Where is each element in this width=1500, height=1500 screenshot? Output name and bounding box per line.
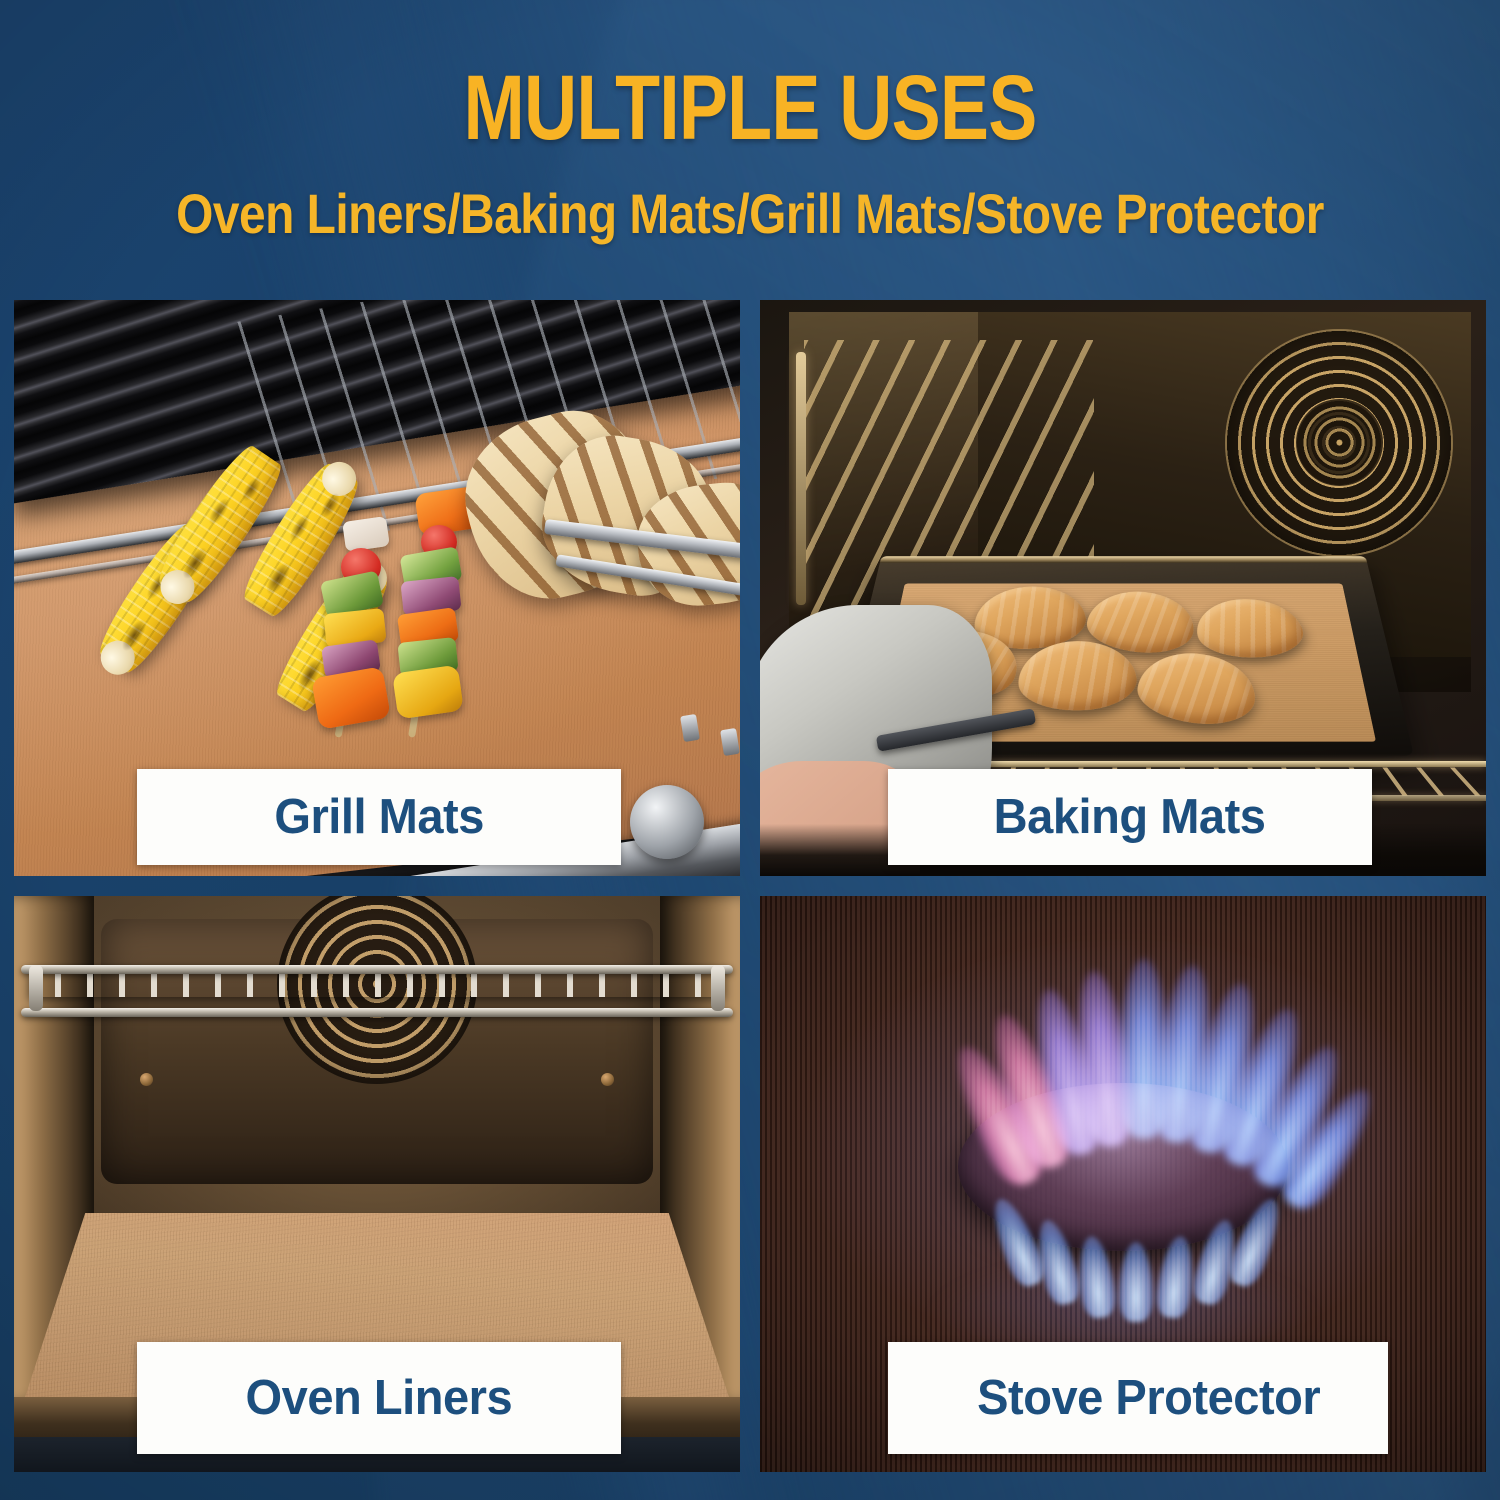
- grill-knob: [630, 785, 704, 859]
- oven-screw-right: [601, 1073, 614, 1086]
- croissant-3: [1191, 595, 1309, 660]
- oven-rack-side-left: [29, 965, 43, 1011]
- panel-label-oven-liners: Oven Liners: [137, 1342, 621, 1454]
- oven-rack-bar-back: [21, 1008, 732, 1017]
- panel-stove-protector[interactable]: Stove Protector: [760, 896, 1486, 1472]
- oven-rack-bar-front: [21, 965, 732, 974]
- skewer2-yellow-pepper: [392, 664, 464, 719]
- oven-rack-side-right: [711, 965, 725, 1011]
- panel-baking-mats[interactable]: Baking Mats: [760, 300, 1486, 876]
- oven-fan-core: [1296, 399, 1383, 486]
- oven-fan-vent-icon: [1225, 329, 1453, 557]
- use-case-grid: Grill Mats Ba: [14, 300, 1486, 1472]
- panel-label-text: Stove Protector: [977, 1374, 1320, 1423]
- panel-label-text: Baking Mats: [994, 793, 1266, 842]
- panel-label-text: Grill Mats: [274, 793, 484, 842]
- croissant-6: [1132, 648, 1256, 728]
- oven-wire-rack: [29, 971, 726, 997]
- page-subtitle: Oven Liners/Baking Mats/Grill Mats/Stove…: [109, 185, 1392, 244]
- oven-screw-left: [140, 1073, 153, 1086]
- panel-label-stove-protector: Stove Protector: [888, 1342, 1388, 1454]
- panel-label-text: Oven Liners: [246, 1374, 513, 1423]
- panel-grill-mats[interactable]: Grill Mats: [14, 300, 740, 876]
- panel-label-grill-mats: Grill Mats: [137, 769, 621, 865]
- panel-oven-liners[interactable]: Oven Liners: [14, 896, 740, 1472]
- panel-label-baking-mats: Baking Mats: [888, 769, 1372, 865]
- skewer1-onion: [342, 516, 390, 552]
- oven-side-rail: [796, 352, 806, 605]
- baking-tray-lip: [879, 556, 1366, 563]
- page-title: MULTIPLE USES: [150, 62, 1350, 154]
- header: MULTIPLE USES Oven Liners/Baking Mats/Gr…: [0, 0, 1500, 292]
